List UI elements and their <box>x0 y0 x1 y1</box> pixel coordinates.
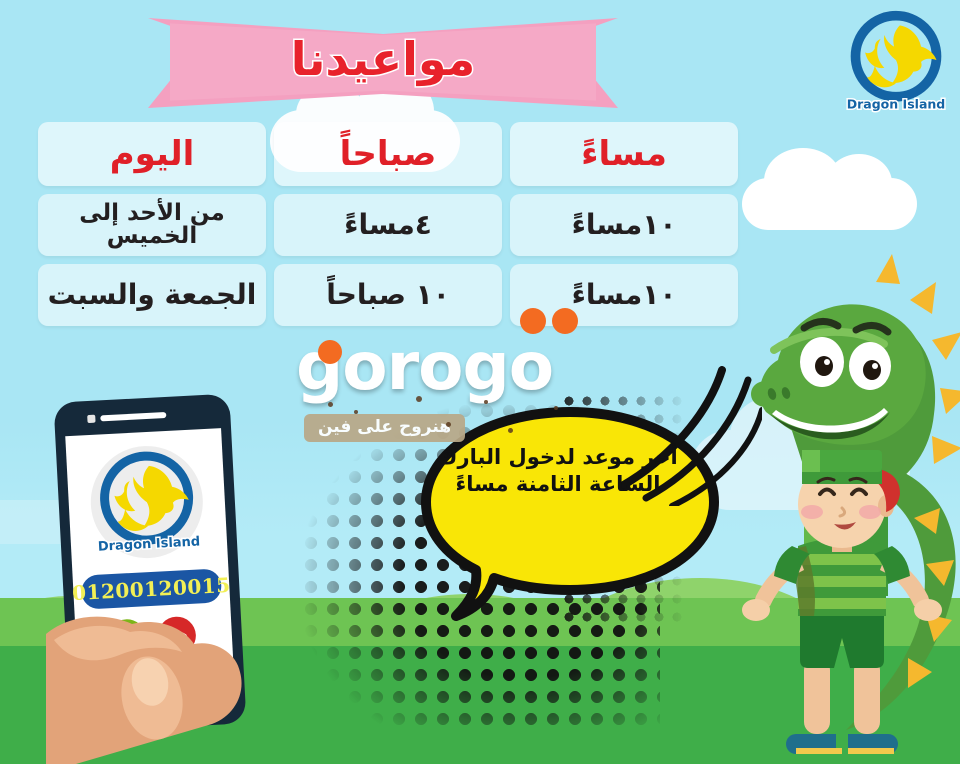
boy-character <box>742 450 942 764</box>
boy-illustration <box>742 450 942 764</box>
speech-line-2: الساعة الثامنة مساءً <box>422 471 694 498</box>
watermark-tagline: هنروح على فين <box>304 414 465 442</box>
watermark-speck <box>446 422 451 427</box>
cell-weekday-day: من الأحد إلى الخميس <box>38 194 266 256</box>
svg-text:Dragon Island: Dragon Island <box>98 534 201 554</box>
phone-camera-icon <box>87 415 95 423</box>
header-label-morning: صباحاً <box>340 137 437 171</box>
dragon-island-logo-icon: Dragon Island <box>88 443 206 561</box>
brand-logo-corner: Dragon Island <box>842 8 950 116</box>
schedule-table: مساءً صباحاً اليوم ١٠مساءً ٤مساءً من الأ… <box>38 122 738 334</box>
value-weekday-day: من الأحد إلى الخميس <box>38 202 266 248</box>
cell-weekend-day: الجمعة والسبت <box>38 264 266 326</box>
watermark-speck <box>354 410 358 414</box>
value-weekend-day: الجمعة والسبت <box>42 281 263 309</box>
title-ribbon: مواعيدنا <box>148 12 618 112</box>
value-weekend-morning: ١٠ صباحاً <box>320 281 456 309</box>
schedule-row-weekday: ١٠مساءً ٤مساءً من الأحد إلى الخميس <box>38 194 738 256</box>
value-weekend-evening: ١٠مساءً <box>566 281 683 309</box>
header-cell-morning: صباحاً <box>274 122 502 186</box>
schedule-header-row: مساءً صباحاً اليوم <box>38 122 738 186</box>
poster-canvas: أخر موعد لدخول البارك الساعة الثامنة مسا… <box>0 0 960 764</box>
watermark-dot-icon <box>520 308 546 334</box>
watermark-wordmark: gorogo <box>296 336 646 399</box>
watermark-speck <box>328 402 333 407</box>
header-cell-day: اليوم <box>38 122 266 186</box>
dragon-island-logo-icon: Dragon Island <box>842 8 950 116</box>
header-cell-evening: مساءً <box>510 122 738 186</box>
speech-line-1: أخر موعد لدخول البارك <box>422 444 694 471</box>
phone-brand-logo: Dragon Island <box>88 443 206 561</box>
watermark-speck <box>508 428 513 433</box>
svg-text:Dragon Island: Dragon Island <box>847 96 946 111</box>
cell-weekday-morning: ٤مساءً <box>274 194 502 256</box>
phone-speaker-icon <box>100 412 166 421</box>
watermark: gorogo هنروح على فين <box>296 336 646 446</box>
watermark-dot-icon <box>318 340 342 364</box>
value-weekday-evening: ١٠مساءً <box>566 211 683 239</box>
schedule-row-weekend: ١٠مساءً ١٠ صباحاً الجمعة والسبت <box>38 264 738 326</box>
watermark-speck <box>554 406 558 410</box>
phone-in-hand: Dragon Island 01200120015 <box>46 398 286 764</box>
hand-illustration <box>46 574 276 764</box>
watermark-speck <box>416 396 422 402</box>
watermark-speck <box>484 400 488 404</box>
page-title: مواعيدنا <box>148 12 618 112</box>
header-label-evening: مساءً <box>581 137 667 171</box>
watermark-dot-icon <box>552 308 578 334</box>
cell-weekday-evening: ١٠مساءً <box>510 194 738 256</box>
speech-bubble-text: أخر موعد لدخول البارك الساعة الثامنة مسا… <box>422 444 694 498</box>
value-weekday-morning: ٤مساءً <box>338 211 438 239</box>
header-label-day: اليوم <box>110 137 195 171</box>
cell-weekend-morning: ١٠ صباحاً <box>274 264 502 326</box>
